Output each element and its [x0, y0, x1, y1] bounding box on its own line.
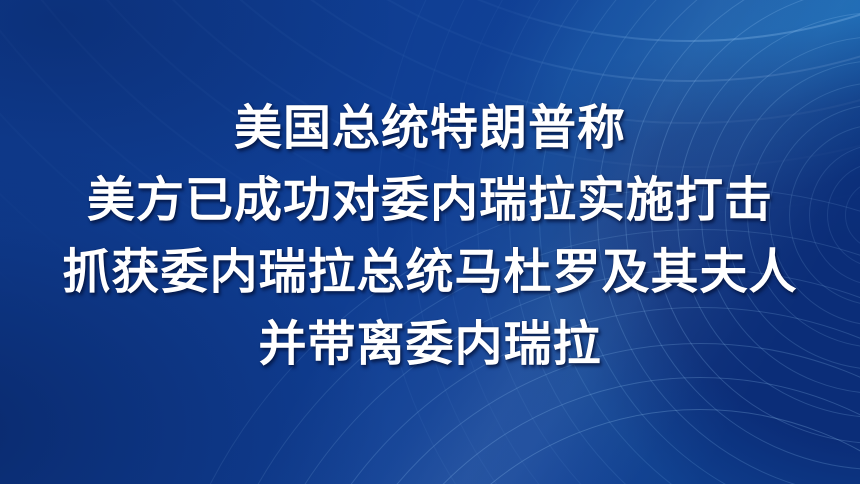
headline-line-1: 美国总统特朗普称 [234, 92, 626, 164]
headline-block: 美国总统特朗普称 美方已成功对委内瑞拉实施打击 抓获委内瑞拉总统马杜罗及其夫人 … [0, 92, 860, 380]
headline-line-4: 并带离委内瑞拉 [258, 308, 601, 380]
headline-line-3: 抓获委内瑞拉总统马杜罗及其夫人 [62, 236, 797, 308]
ripple-ring [337, 377, 860, 484]
ripple-ring [88, 0, 860, 82]
headline-line-2: 美方已成功对委内瑞拉实施打击 [87, 164, 773, 236]
news-card: 美国总统特朗普称 美方已成功对委内瑞拉实施打击 抓获委内瑞拉总统马杜罗及其夫人 … [0, 0, 860, 484]
ripple-ring [128, 0, 860, 42]
ripple-ring [369, 409, 860, 484]
